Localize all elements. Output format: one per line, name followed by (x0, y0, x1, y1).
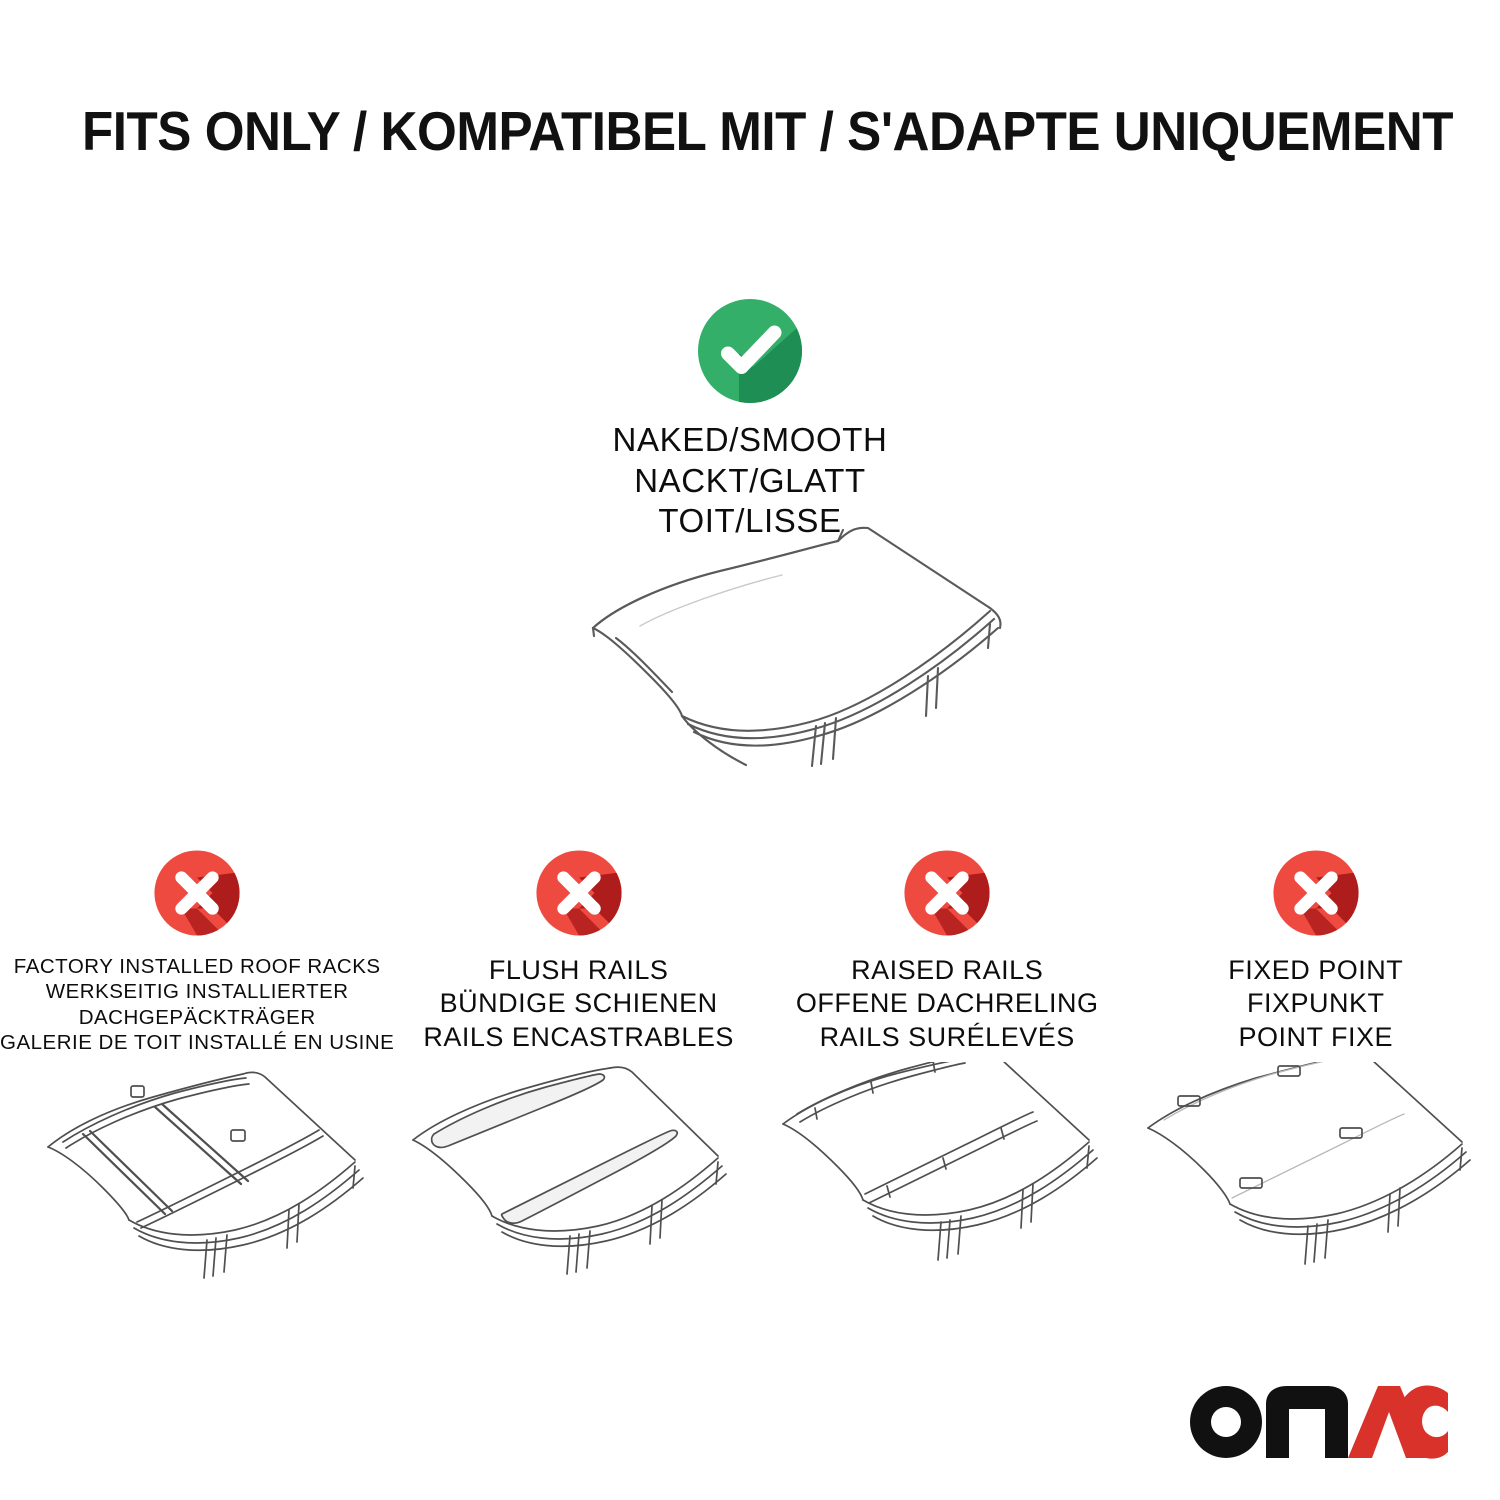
label-line-1: FIXED POINT (1228, 954, 1403, 987)
car-roof-flush-rails-illustration (375, 1062, 750, 1292)
compatible-label-en: NAKED/SMOOTH (613, 420, 888, 461)
red-x-icon (152, 848, 242, 938)
incompatible-columns: FACTORY INSTALLED ROOF RACKS WERKSEITIG … (0, 848, 1500, 1056)
label-line-2: OFFENE DACHRELING (796, 987, 1099, 1020)
car-roof-fixed-point-illustration (1125, 1062, 1500, 1292)
label-line-3: DACHGEPÄCKTRÄGER (0, 1005, 394, 1030)
label-line-4: GALERIE DE TOIT INSTALLÉ EN USINE (0, 1030, 394, 1055)
label-line-1: FACTORY INSTALLED ROOF RACKS (0, 954, 394, 979)
compatible-label-de: NACKT/GLATT (613, 461, 888, 502)
incompatible-illustrations (0, 1062, 1500, 1292)
car-roof-raised-rails-illustration (750, 1062, 1125, 1292)
column-fixed-point: FIXED POINT FIXPUNKT POINT FIXE (1131, 848, 1500, 1056)
label-line-3: RAILS ENCASTRABLES (423, 1021, 734, 1054)
omac-logo (1188, 1379, 1448, 1465)
column-factory-installed-roof-racks: FACTORY INSTALLED ROOF RACKS WERKSEITIG … (0, 848, 394, 1056)
red-x-icon (902, 848, 992, 938)
column-flush-rails: FLUSH RAILS BÜNDIGE SCHIENEN RAILS ENCAS… (394, 848, 763, 1056)
compatibility-infographic: FITS ONLY / KOMPATIBEL MIT / S'ADAPTE UN… (0, 0, 1500, 1500)
label-line-1: RAISED RAILS (796, 954, 1099, 987)
column-labels: FLUSH RAILS BÜNDIGE SCHIENEN RAILS ENCAS… (423, 954, 734, 1054)
label-line-1: FLUSH RAILS (423, 954, 734, 987)
label-line-3: RAILS SURÉLEVÉS (796, 1021, 1099, 1054)
compatible-section: NAKED/SMOOTH NACKT/GLATT TOIT/LISSE (0, 296, 1500, 542)
label-line-3: POINT FIXE (1228, 1021, 1403, 1054)
car-roof-naked-smooth-illustration (520, 516, 1040, 796)
column-labels: RAISED RAILS OFFENE DACHRELING RAILS SUR… (796, 954, 1099, 1054)
red-x-icon (1271, 848, 1361, 938)
label-line-2: FIXPUNKT (1228, 987, 1403, 1020)
car-roof-factory-rack-illustration (0, 1062, 375, 1292)
column-raised-rails: RAISED RAILS OFFENE DACHRELING RAILS SUR… (763, 848, 1132, 1056)
label-line-2: WERKSEITIG INSTALLIERTER (0, 979, 394, 1004)
label-line-2: BÜNDIGE SCHIENEN (423, 987, 734, 1020)
page-title: FITS ONLY / KOMPATIBEL MIT / S'ADAPTE UN… (82, 104, 1328, 159)
column-labels: FIXED POINT FIXPUNKT POINT FIXE (1228, 954, 1403, 1054)
column-labels: FACTORY INSTALLED ROOF RACKS WERKSEITIG … (0, 954, 394, 1056)
red-x-icon (534, 848, 624, 938)
green-check-icon (695, 296, 805, 406)
